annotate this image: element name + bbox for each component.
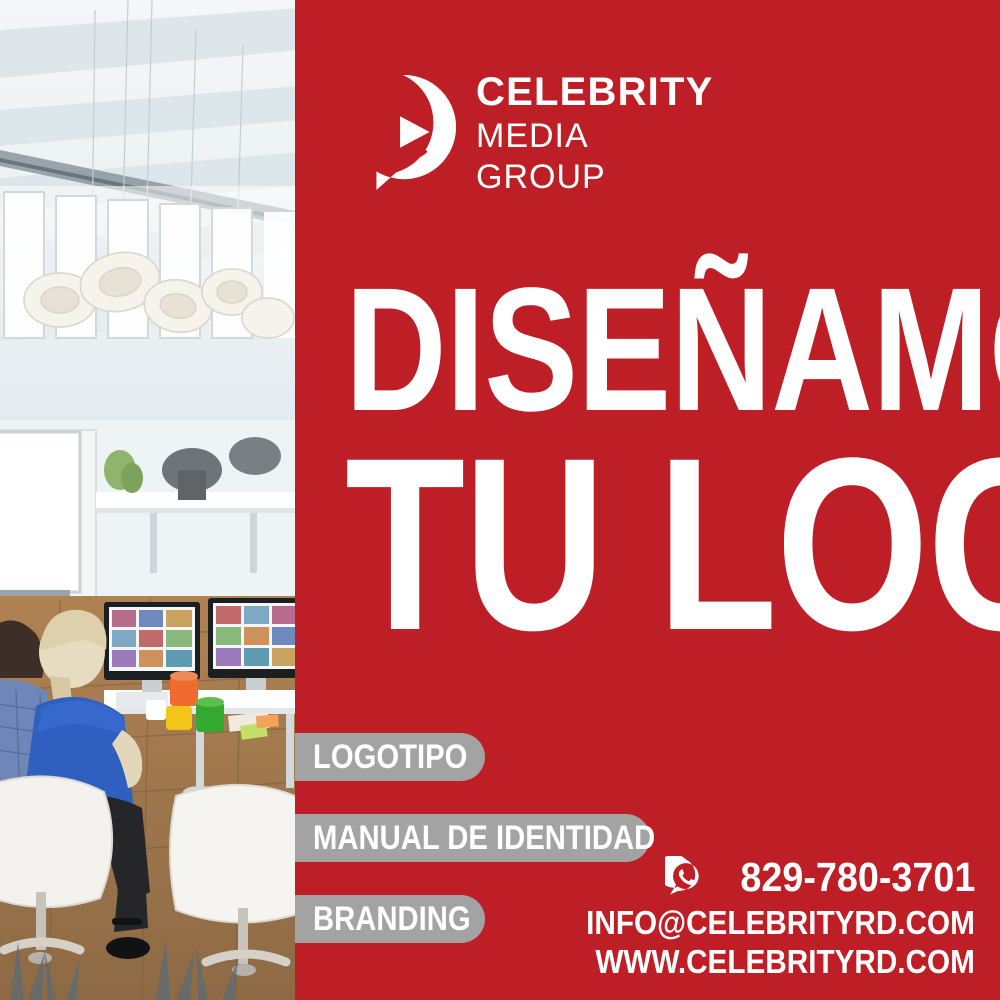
brand-wordmark: CELEBRITY MEDIA GROUP — [476, 72, 713, 194]
brand-name-line3: GROUP — [476, 160, 713, 194]
office-photo-illustration — [0, 0, 300, 1000]
contact-email[interactable]: INFO@CELEBRITYRD.COM — [586, 904, 975, 943]
service-badge-manual-de-identidad-label: MANUAL DE IDENTIDAD — [313, 819, 655, 858]
whatsapp-icon — [665, 856, 707, 898]
contact-phone-row[interactable]: 829-780-3701 — [543, 856, 975, 898]
contact-website[interactable]: WWW.CELEBRITYRD.COM — [586, 943, 975, 982]
celebrity-play-bubble-icon — [348, 73, 458, 193]
service-badge-logotipo-label: LOGOTIPO — [313, 738, 467, 777]
contact-block: 829-780-3701 INFO@CELEBRITYRD.COM WWW.CE… — [543, 856, 975, 982]
headline: DISEÑAMOS TU LOGO — [345, 262, 995, 668]
brand-logo: CELEBRITY MEDIA GROUP — [348, 72, 713, 194]
brand-name-line1: CELEBRITY — [476, 72, 713, 112]
service-badge-logotipo[interactable]: LOGOTIPO — [295, 733, 485, 781]
office-photo — [0, 0, 300, 1000]
brand-name-line2: MEDIA — [476, 119, 713, 153]
headline-line-2: TU LOGO — [345, 422, 865, 668]
poster: CELEBRITY MEDIA GROUP DISEÑAMOS TU LOGO … — [0, 0, 1000, 1000]
service-badge-branding[interactable]: BRANDING — [295, 895, 485, 943]
service-badge-manual-de-identidad[interactable]: MANUAL DE IDENTIDAD — [295, 814, 650, 862]
service-badge-branding-label: BRANDING — [313, 900, 471, 939]
contact-phone-number[interactable]: 829-780-3701 — [740, 857, 975, 898]
